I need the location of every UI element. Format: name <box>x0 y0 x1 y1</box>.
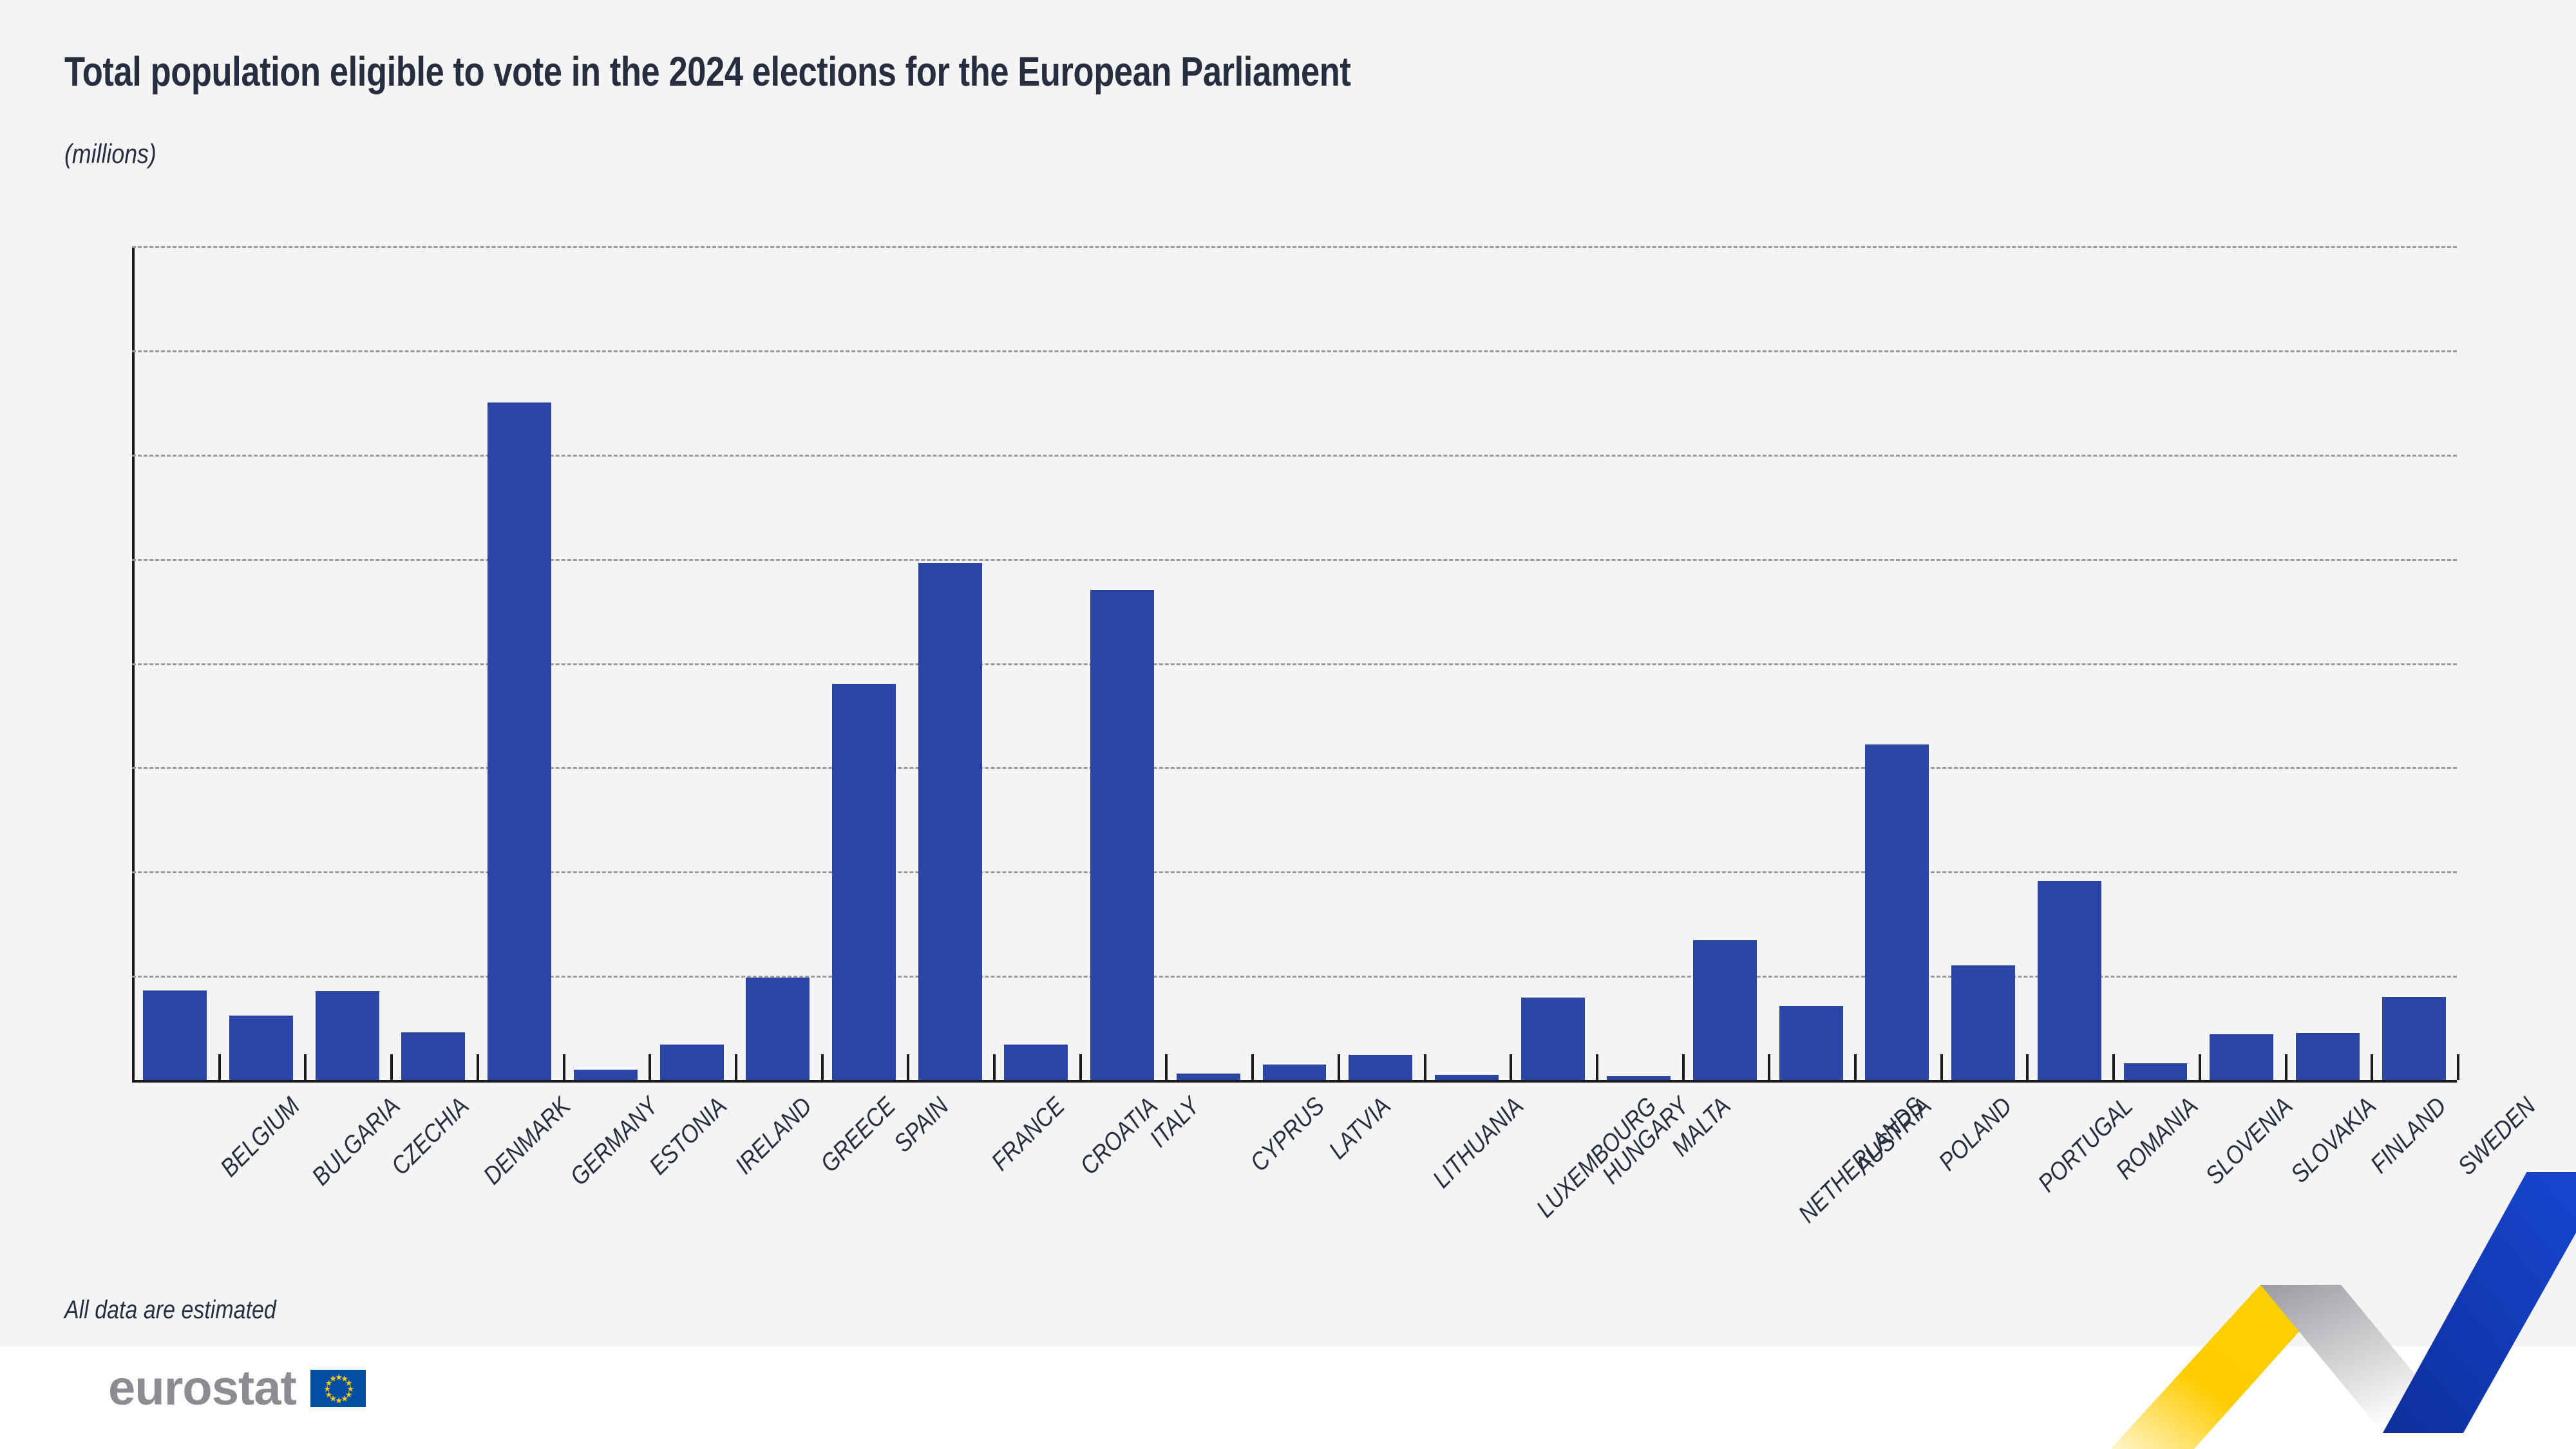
x-axis-label-slot: SLOVAKIA <box>2199 1088 2285 1301</box>
x-axis-label-slot: AUSTRIA <box>1768 1088 1854 1301</box>
bar-slot <box>1424 246 1510 1080</box>
bar-slot <box>1768 246 1854 1080</box>
footnote: All data are estimated <box>64 1296 276 1325</box>
bar[interactable] <box>1263 1065 1327 1080</box>
bar[interactable] <box>229 1016 293 1080</box>
x-axis-label-slot: ITALY <box>1079 1088 1166 1301</box>
x-axis-tick <box>649 1054 651 1080</box>
bar-slot <box>2026 246 2112 1080</box>
bar[interactable] <box>918 563 982 1080</box>
x-axis-label-slot: GREECE <box>735 1088 821 1301</box>
bar-slot <box>2285 246 2371 1080</box>
x-axis-tick <box>2199 1054 2201 1080</box>
x-axis-label-slot: POLAND <box>1854 1088 1940 1301</box>
x-axis-label-slot: LITHUANIA <box>1338 1088 1424 1301</box>
x-axis-label-slot: CYPRUS <box>1165 1088 1251 1301</box>
x-axis-tick <box>1596 1054 1598 1080</box>
x-axis-label-slot: LUXEMBOURG <box>1424 1088 1510 1301</box>
bar[interactable] <box>1607 1076 1671 1080</box>
bar[interactable] <box>1090 590 1154 1080</box>
x-axis-label-slot: IRELAND <box>649 1088 735 1301</box>
bar[interactable] <box>2124 1063 2188 1080</box>
x-axis-label-slot: HUNGARY <box>1510 1088 1596 1301</box>
bar[interactable] <box>1435 1075 1499 1080</box>
x-axis-label-slot: CZECHIA <box>304 1088 390 1301</box>
x-axis-tick <box>1768 1054 1770 1080</box>
bar[interactable] <box>1779 1006 1843 1080</box>
x-axis-label-slot: MALTA <box>1596 1088 1682 1301</box>
bar-slot <box>2112 246 2199 1080</box>
x-axis-tick <box>477 1054 479 1080</box>
bar[interactable] <box>2210 1034 2273 1080</box>
x-axis-tick <box>218 1054 221 1080</box>
chart-subtitle: (millions) <box>64 138 156 169</box>
eu-star-icon: ★ <box>329 1376 335 1381</box>
bar-slot <box>1854 246 1940 1080</box>
bar[interactable] <box>2296 1033 2360 1080</box>
bar-slot <box>993 246 1079 1080</box>
bar[interactable] <box>401 1032 465 1080</box>
bar-slot <box>1165 246 1251 1080</box>
x-axis-tick <box>1854 1054 1857 1080</box>
x-axis-label-slot: ESTONIA <box>563 1088 649 1301</box>
bar-slot <box>1079 246 1166 1080</box>
x-axis-label-slot: BELGIUM <box>132 1088 218 1301</box>
bar-slot <box>821 246 907 1080</box>
x-axis-tick <box>390 1054 393 1080</box>
bar-slot <box>304 246 390 1080</box>
bar[interactable] <box>1521 998 1585 1080</box>
bar-slot <box>1682 246 1768 1080</box>
x-axis-tick <box>735 1054 737 1080</box>
x-axis-tick <box>2285 1054 2287 1080</box>
bar[interactable] <box>143 990 207 1080</box>
x-axis-tick <box>1165 1054 1168 1080</box>
x-axis-label-slot: PORTUGAL <box>1940 1088 2027 1301</box>
x-axis-label-slot: ROMANIA <box>2026 1088 2112 1301</box>
x-axis-label-slot: SPAIN <box>821 1088 907 1301</box>
bar-slot <box>390 246 477 1080</box>
bar-slot <box>132 246 218 1080</box>
x-axis-tick <box>2371 1054 2373 1080</box>
bar-slot <box>2371 246 2457 1080</box>
x-axis-label-slot: BULGARIA <box>218 1088 305 1301</box>
x-axis-label-slot: FRANCE <box>907 1088 993 1301</box>
plot-area: 01020304050607080 <box>132 246 2457 1080</box>
x-axis-label-slot: CROATIA <box>993 1088 1079 1301</box>
bar[interactable] <box>316 991 379 1080</box>
bar[interactable] <box>1951 965 2015 1080</box>
x-axis-tick <box>2112 1054 2115 1080</box>
bar-slot <box>1596 246 1682 1080</box>
bar-slot <box>1338 246 1424 1080</box>
x-axis-tick <box>1510 1054 1512 1080</box>
gridline <box>132 1080 2457 1083</box>
x-axis-labels: BELGIUMBULGARIACZECHIADENMARKGERMANYESTO… <box>132 1088 2457 1301</box>
x-axis-tick <box>907 1054 909 1080</box>
x-axis-label-slot: DENMARK <box>390 1088 477 1301</box>
bar-slot <box>735 246 821 1080</box>
bar[interactable] <box>2038 881 2101 1080</box>
bar-slot <box>907 246 993 1080</box>
bar[interactable] <box>1693 940 1757 1080</box>
bar[interactable] <box>746 978 810 1080</box>
page-title: Total population eligible to vote in the… <box>64 48 1860 95</box>
bar-slot <box>477 246 563 1080</box>
x-axis-label-slot: FINLAND <box>2285 1088 2371 1301</box>
bar-slot <box>1940 246 2027 1080</box>
x-axis-tick <box>993 1054 996 1080</box>
bar[interactable] <box>488 402 551 1080</box>
bar[interactable] <box>660 1045 724 1080</box>
x-axis-tick <box>1338 1054 1340 1080</box>
bar-slot <box>2199 246 2285 1080</box>
bar[interactable] <box>2382 997 2446 1081</box>
eu-flag-icon: ★★★★★★★★★★★★ <box>310 1370 366 1407</box>
x-axis-label-slot: SLOVENIA <box>2112 1088 2199 1301</box>
bar[interactable] <box>1865 744 1929 1080</box>
x-axis-tick <box>2457 1054 2459 1080</box>
bar-slot <box>563 246 649 1080</box>
bar[interactable] <box>1349 1055 1412 1080</box>
x-axis-tick <box>1079 1054 1082 1080</box>
bar[interactable] <box>832 684 896 1080</box>
bars-group <box>132 246 2457 1080</box>
eurostat-wordmark: eurostat <box>108 1364 296 1413</box>
x-axis-tick <box>1682 1054 1685 1080</box>
x-axis-label-slot: NETHERLANDS <box>1682 1088 1768 1301</box>
bar[interactable] <box>1004 1045 1068 1080</box>
bar-slot <box>218 246 305 1080</box>
bar[interactable] <box>574 1070 638 1080</box>
x-axis-label-slot: SWEDEN <box>2371 1088 2457 1301</box>
x-axis-label-slot: GERMANY <box>477 1088 563 1301</box>
eurostat-logo: eurostat ★★★★★★★★★★★★ <box>108 1364 366 1413</box>
bar-slot <box>1251 246 1338 1080</box>
x-axis-tick <box>304 1054 307 1080</box>
x-axis-tick <box>2026 1054 2029 1080</box>
x-axis-tick <box>821 1054 824 1080</box>
x-axis-tick <box>563 1054 565 1080</box>
x-axis-tick <box>1251 1054 1254 1080</box>
bar[interactable] <box>1177 1074 1240 1080</box>
x-axis-label-slot: LATVIA <box>1251 1088 1338 1301</box>
x-axis-tick <box>1424 1054 1426 1080</box>
x-axis-tick <box>1940 1054 1943 1080</box>
chart-page: Total population eligible to vote in the… <box>0 0 2576 1449</box>
bar-slot <box>649 246 735 1080</box>
bar-slot <box>1510 246 1596 1080</box>
